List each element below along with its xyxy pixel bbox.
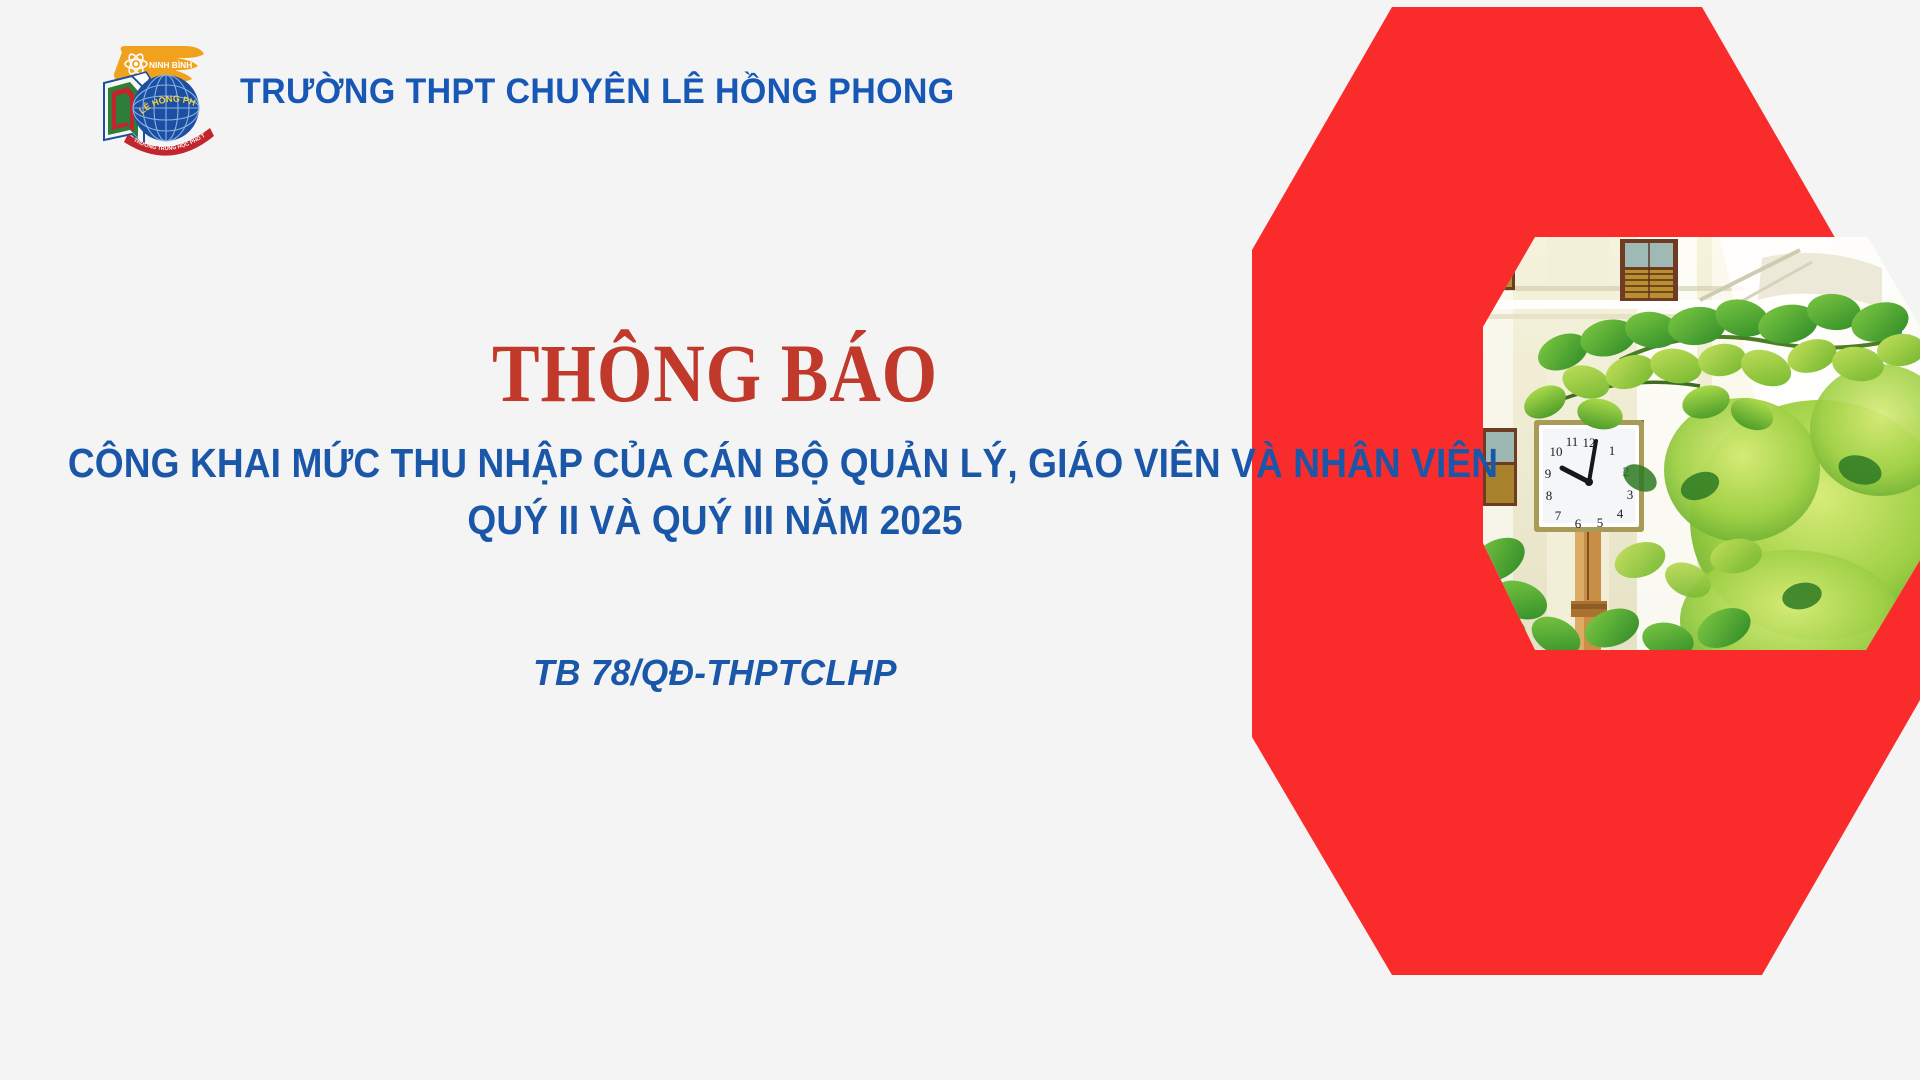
svg-text:9: 9 <box>1545 466 1552 481</box>
svg-text:10: 10 <box>1550 444 1563 459</box>
school-name-title: TRƯỜNG THPT CHUYÊN LÊ HỒNG PHONG <box>240 72 955 112</box>
document-number: TB 78/QĐ-THPTCLHP <box>14 652 1415 694</box>
svg-text:1: 1 <box>1609 443 1616 458</box>
school-photo-hexagon: 12 1 2 3 4 5 6 7 8 9 10 11 <box>1462 237 1920 690</box>
svg-text:12: 12 <box>1583 435 1596 450</box>
main-content: THÔNG BÁO CÔNG KHAI MỨC THU NHẬP CỦA CÁN… <box>0 332 1430 694</box>
svg-text:7: 7 <box>1555 508 1562 523</box>
svg-text:4: 4 <box>1617 506 1624 521</box>
school-crest-logo: NINH BÌNH LÊ HỒNG PHO <box>88 28 216 156</box>
page-title: THÔNG BÁO <box>100 332 1330 415</box>
svg-text:8: 8 <box>1546 488 1553 503</box>
subtitle-line-1: CÔNG KHAI MỨC THU NHẬP CỦA CÁN BỘ QUẢN L… <box>68 437 1362 490</box>
svg-text:3: 3 <box>1627 487 1634 502</box>
subtitle-line-2: QUÝ II VÀ QUÝ III NĂM 2025 <box>68 494 1362 547</box>
svg-text:11: 11 <box>1566 434 1579 449</box>
page-header: NINH BÌNH LÊ HỒNG PHO <box>88 28 977 156</box>
announcement-slide: 12 1 2 3 4 5 6 7 8 9 10 11 <box>0 0 1920 1080</box>
svg-text:2: 2 <box>1623 464 1630 479</box>
svg-text:5: 5 <box>1597 515 1604 530</box>
logo-province-text: NINH BÌNH <box>149 59 192 70</box>
svg-text:6: 6 <box>1575 516 1582 531</box>
